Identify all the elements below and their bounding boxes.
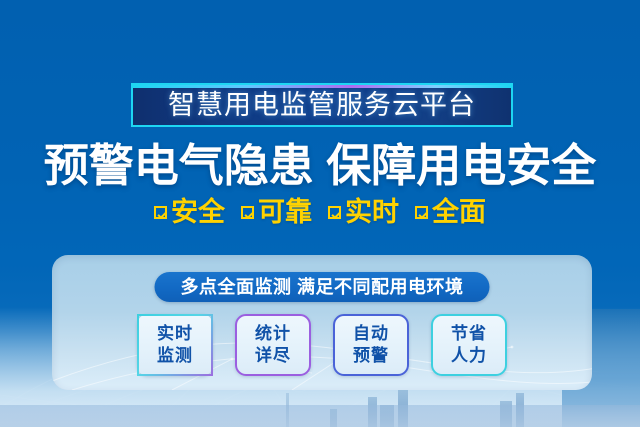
title-badge: 智慧用电监管服务云平台 [131,83,513,127]
title-badge-sheen [133,85,511,88]
feature-tag-list: 安全 可靠 实时 全面 [0,197,640,227]
feature-tag-label: 全面 [432,197,486,227]
feature-card-line1: 实时 [157,323,193,345]
feature-tag-label: 安全 [171,197,225,227]
feature-tag: 实时 [328,197,399,227]
feature-card-line2: 人力 [451,345,487,367]
feature-card-line2: 预警 [353,345,389,367]
feature-tag: 安全 [154,197,225,227]
checkbox-checked-icon [241,206,254,219]
feature-card-save-manpower[interactable]: 节省 人力 [431,314,507,376]
feature-card-line2: 监测 [157,345,193,367]
feature-tag-label: 实时 [345,197,399,227]
feature-tag-label: 可靠 [258,197,312,227]
feature-card-line1: 自动 [353,323,389,345]
feature-panel: 多点全面监测 满足不同配用电环境 实时 监测 统计 详尽 自动 预警 节省 人力 [52,255,592,390]
panel-banner-text: 多点全面监测 满足不同配用电环境 [181,277,464,297]
feature-card-line1: 统计 [255,323,291,345]
feature-card-line1: 节省 [451,323,487,345]
feature-card-list: 实时 监测 统计 详尽 自动 预警 节省 人力 [52,314,592,376]
feature-card-realtime-monitoring[interactable]: 实时 监测 [137,314,213,376]
checkbox-checked-icon [328,206,341,219]
main-headline: 预警电气隐患 保障用电安全 [0,140,640,192]
bottom-band [0,405,640,427]
title-badge-text: 智慧用电监管服务云平台 [168,92,476,119]
feature-tag: 全面 [415,197,486,227]
poster-canvas: 智慧用电监管服务云平台 预警电气隐患 保障用电安全 安全 可靠 实时 全面 [0,0,640,427]
feature-card-detailed-statistics[interactable]: 统计 详尽 [235,314,311,376]
feature-tag: 可靠 [241,197,312,227]
feature-card-auto-alarm[interactable]: 自动 预警 [333,314,409,376]
panel-banner: 多点全面监测 满足不同配用电环境 [155,272,490,302]
feature-card-line2: 详尽 [255,345,291,367]
checkbox-checked-icon [154,206,167,219]
checkbox-checked-icon [415,206,428,219]
